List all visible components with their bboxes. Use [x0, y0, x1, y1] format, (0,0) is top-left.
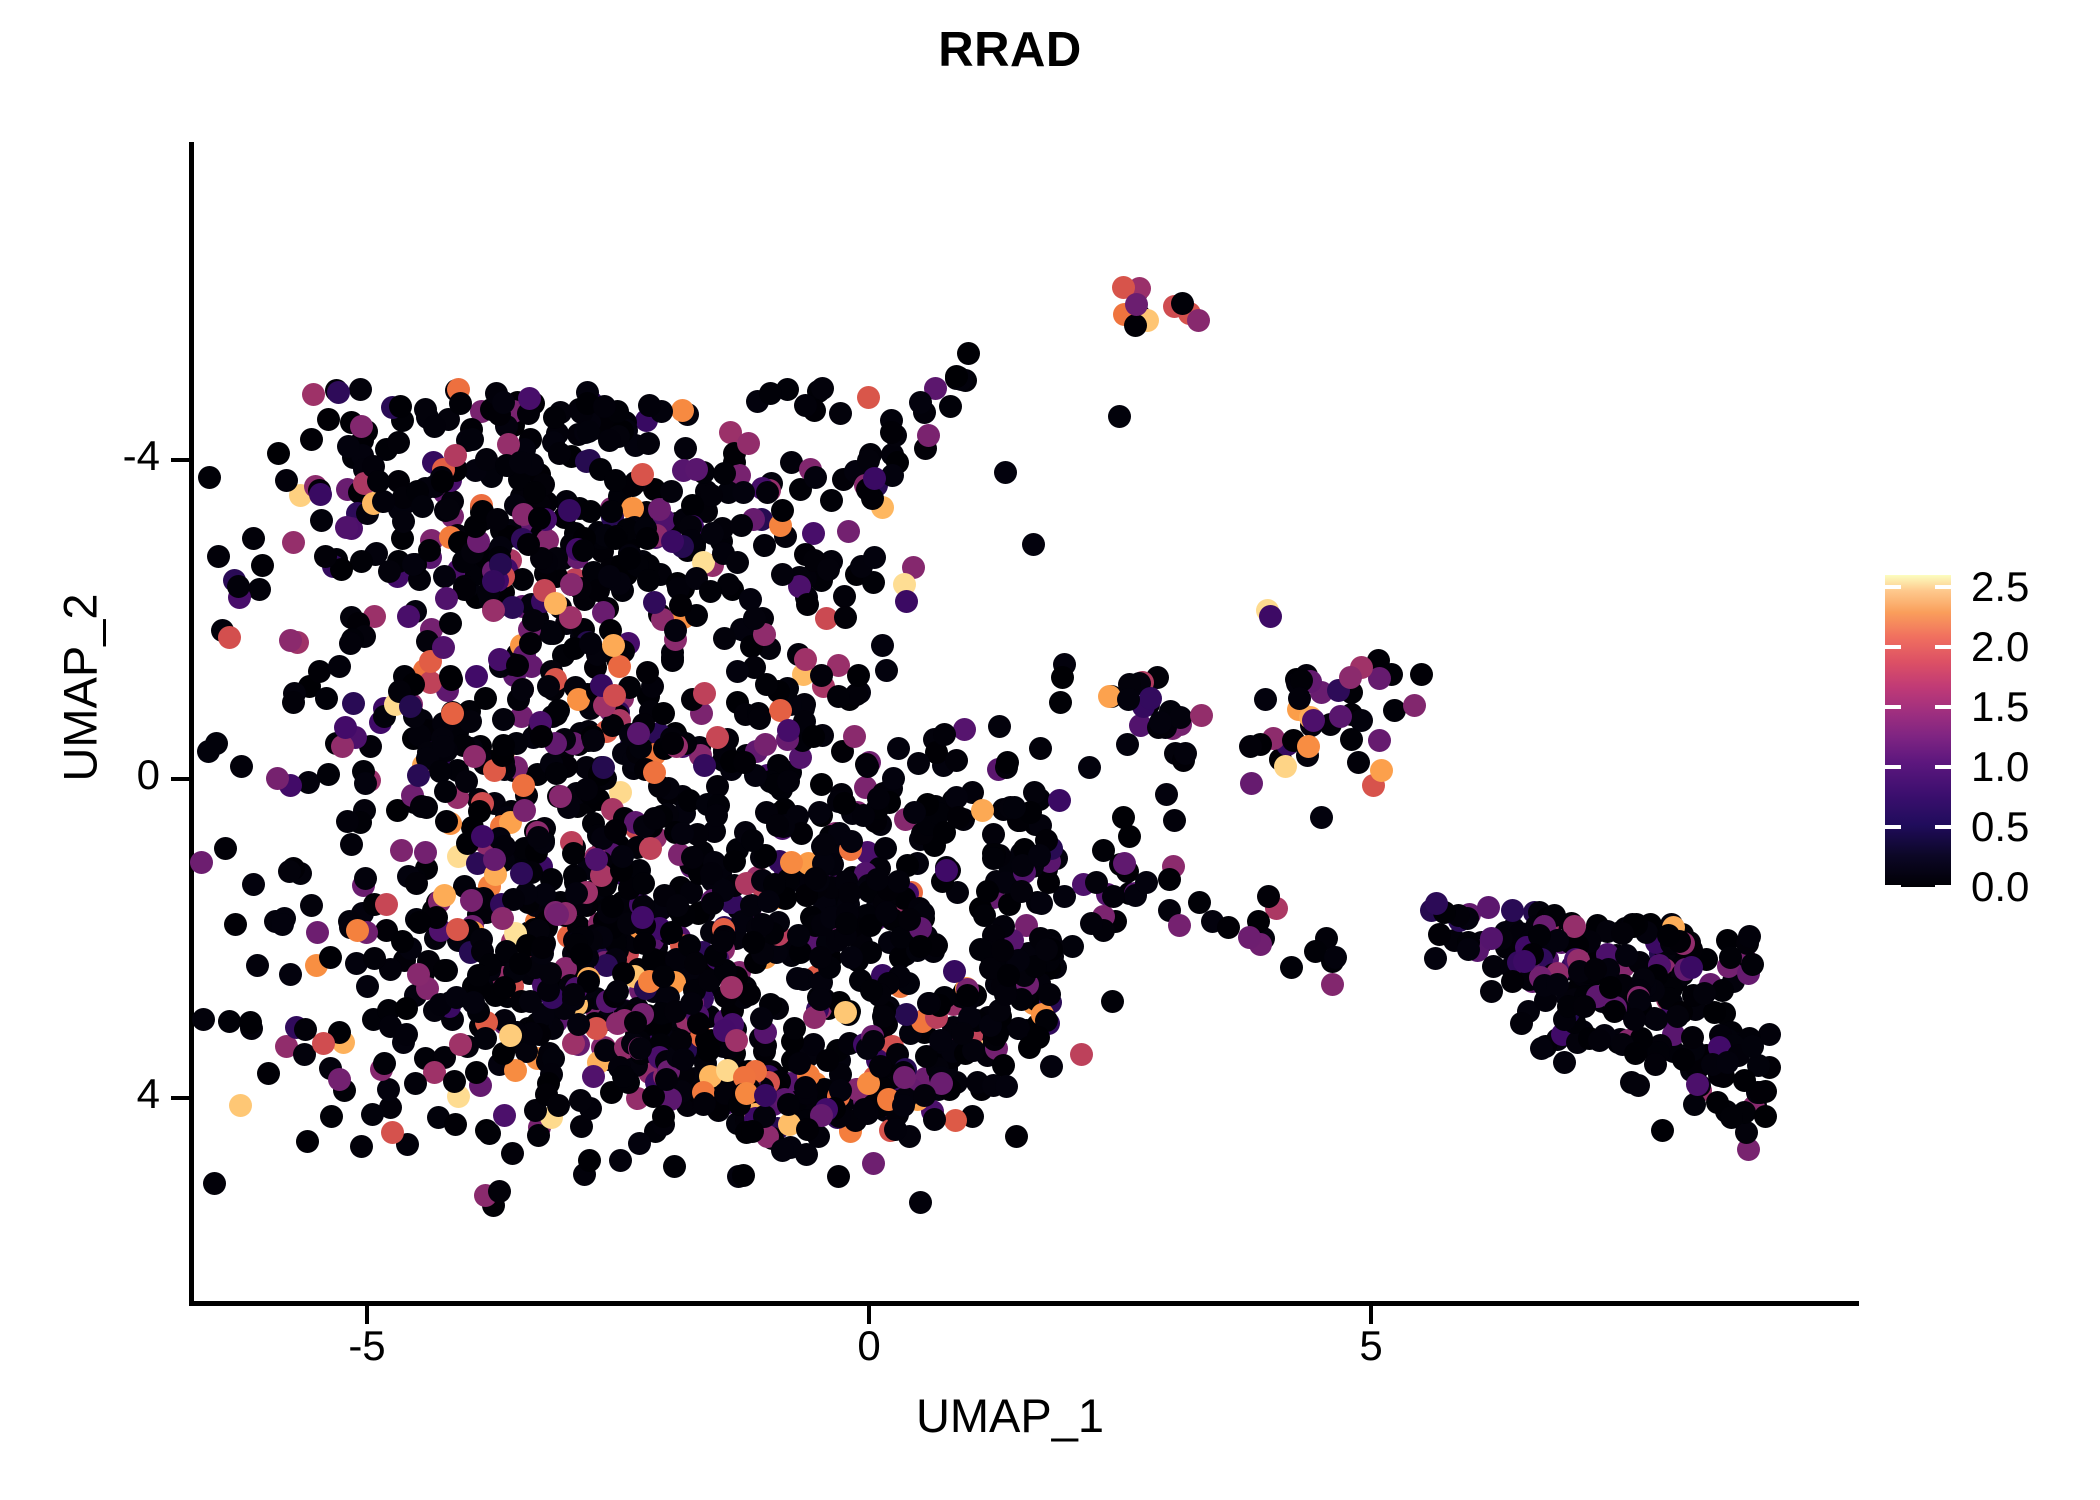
scatter-point [636, 661, 659, 684]
scatter-point [509, 451, 532, 474]
scatter-point [994, 461, 1017, 484]
scatter-point [939, 395, 962, 418]
scatter-point [1680, 956, 1703, 979]
scatter-point [1003, 796, 1026, 819]
scatter-point [335, 516, 358, 539]
scatter-point [1169, 706, 1192, 729]
scatter-point [827, 685, 850, 708]
scatter-point [604, 819, 627, 842]
scatter-point [811, 377, 834, 400]
scatter-point [598, 565, 621, 588]
scatter-point [1240, 772, 1263, 795]
scatter-point [387, 431, 410, 454]
scatter-point [988, 715, 1011, 738]
scatter-point [1297, 735, 1320, 758]
scatter-point [593, 395, 616, 418]
color-legend-tick-mark [1935, 825, 1951, 829]
scatter-point [545, 762, 568, 785]
scatter-point [600, 500, 623, 523]
scatter-point [917, 424, 940, 447]
scatter-point [794, 648, 817, 671]
scatter-point [827, 1165, 850, 1188]
scatter-point [943, 960, 966, 983]
scatter-point [1340, 728, 1363, 751]
scatter-point [833, 792, 856, 815]
scatter-point [390, 839, 413, 862]
scatter-point [660, 921, 683, 944]
scatter-point [637, 432, 660, 455]
color-legend-tick-mark [1935, 705, 1951, 709]
scatter-point [681, 846, 704, 869]
scatter-point [643, 807, 666, 830]
scatter-point [1257, 885, 1280, 908]
scatter-point [282, 531, 305, 554]
scatter-point [1124, 314, 1147, 337]
scatter-point [319, 946, 342, 969]
scatter-point [711, 930, 734, 953]
scatter-point [757, 890, 780, 913]
scatter-point [976, 880, 999, 903]
scatter-point [895, 1003, 918, 1026]
scatter-point [1573, 995, 1596, 1018]
scatter-point [1347, 751, 1370, 774]
scatter-point [528, 507, 551, 530]
scatter-point [578, 1149, 601, 1172]
scatter-point [1720, 1106, 1743, 1129]
scatter-point [440, 668, 463, 691]
scatter-point [1733, 1069, 1756, 1092]
scatter-point [631, 463, 654, 486]
scatter-point [509, 952, 532, 975]
scatter-point [190, 851, 213, 874]
scatter-point [1254, 688, 1277, 711]
scatter-point [433, 884, 456, 907]
scatter-point [1686, 1073, 1709, 1096]
scatter-point [813, 833, 836, 856]
scatter-point [346, 919, 369, 942]
scatter-point [582, 729, 605, 752]
scatter-point [862, 1030, 885, 1053]
scatter-point [1061, 935, 1084, 958]
scatter-point [982, 847, 1005, 870]
scatter-point [491, 907, 514, 930]
y-axis-line [189, 142, 194, 1306]
scatter-point [354, 867, 377, 890]
scatter-point [944, 1109, 967, 1132]
scatter-point [501, 1142, 524, 1165]
scatter-point [804, 466, 827, 489]
scatter-point [1259, 605, 1282, 628]
scatter-point [483, 848, 506, 871]
color-legend-tick-mark [1885, 645, 1901, 649]
scatter-point [903, 801, 926, 824]
umap-feature-plot: RRAD 40-4 -505 UMAP_1 UMAP_2 2.52.01.51.… [0, 0, 2100, 1500]
scatter-point [780, 851, 803, 874]
color-legend-label: 0.5 [1971, 803, 2029, 851]
scatter-point [1611, 922, 1634, 945]
scatter-point [835, 912, 858, 935]
scatter-point [1288, 687, 1311, 710]
scatter-point [853, 1098, 876, 1121]
scatter-point [933, 723, 956, 746]
scatter-point [771, 1139, 794, 1162]
scatter-point [833, 585, 856, 608]
scatter-point [618, 547, 641, 570]
scatter-point [887, 737, 910, 760]
scatter-point [684, 952, 707, 975]
scatter-point [863, 467, 886, 490]
scatter-point [884, 1118, 907, 1141]
scatter-point [320, 1105, 343, 1128]
x-tick-label: 0 [809, 1322, 929, 1370]
scatter-point [737, 432, 760, 455]
scatter-point [1370, 759, 1393, 782]
scatter-point [1190, 704, 1213, 727]
scatter-point [242, 527, 265, 550]
scatter-point [909, 1191, 932, 1214]
scatter-point [512, 774, 535, 797]
scatter-point [1274, 755, 1297, 778]
scatter-point [317, 408, 340, 431]
scatter-point [1510, 1012, 1533, 1035]
scatter-point [547, 1094, 570, 1117]
scatter-point [267, 442, 290, 465]
scatter-point [1040, 1055, 1063, 1078]
scatter-point [218, 1010, 241, 1033]
y-tick-mark [171, 1096, 189, 1100]
scatter-point [898, 908, 921, 931]
scatter-point [754, 733, 777, 756]
scatter-point [1117, 688, 1140, 711]
scatter-point [840, 830, 863, 853]
scatter-point [1027, 1026, 1050, 1049]
y-tick-mark [171, 777, 189, 781]
scatter-point [546, 903, 569, 926]
scatter-point [802, 725, 825, 748]
color-legend-label: 1.0 [1971, 743, 2029, 791]
scatter-point [1339, 666, 1362, 689]
scatter-point [1135, 871, 1158, 894]
scatter-point [433, 565, 456, 588]
scatter-point [693, 682, 716, 705]
scatter-point [302, 383, 325, 406]
scatter-point [1125, 293, 1148, 316]
scatter-point [314, 545, 337, 568]
scatter-point [378, 560, 401, 583]
scatter-point [340, 833, 363, 856]
scatter-point [1005, 1125, 1028, 1148]
scatter-point [350, 415, 373, 438]
scatter-point [1615, 944, 1638, 967]
scatter-point [1085, 871, 1108, 894]
scatter-point [1530, 1037, 1553, 1060]
scatter-point [407, 764, 430, 787]
scatter-point [1163, 809, 1186, 832]
scatter-point [1092, 839, 1115, 862]
scatter-point [652, 1105, 675, 1128]
scatter-point [1321, 973, 1344, 996]
scatter-point [720, 976, 743, 999]
scatter-point [1480, 980, 1503, 1003]
scatter-point [519, 632, 542, 655]
scatter-point [562, 842, 585, 865]
scatter-point [857, 386, 880, 409]
scatter-point [783, 1017, 806, 1040]
scatter-point [465, 1061, 488, 1084]
scatter-point [530, 725, 553, 748]
scatter-point [929, 1029, 952, 1052]
scatter-point [787, 924, 810, 947]
scatter-point [603, 684, 626, 707]
color-legend-tick-mark [1885, 765, 1901, 769]
scatter-point [230, 755, 253, 778]
scatter-point [652, 965, 675, 988]
scatter-point [432, 735, 455, 758]
scatter-point [1149, 711, 1172, 734]
scatter-point [1238, 926, 1261, 949]
scatter-point [1304, 940, 1327, 963]
scatter-point [609, 1149, 632, 1172]
color-legend-tick-mark [1935, 885, 1951, 889]
scatter-point [537, 675, 560, 698]
scatter-point [705, 804, 728, 827]
scatter-point [796, 1118, 819, 1141]
scatter-point [869, 1055, 892, 1078]
scatter-point [992, 1054, 1015, 1077]
scatter-point [405, 872, 428, 895]
scatter-point [558, 499, 581, 522]
color-legend-label: 1.5 [1971, 683, 2029, 731]
scatter-point [474, 687, 497, 710]
x-tick-label: 5 [1311, 1322, 1431, 1370]
scatter-point [681, 494, 704, 517]
scatter-point [817, 558, 840, 581]
scatter-point [397, 605, 420, 628]
scatter-point [294, 1018, 317, 1041]
scatter-point [669, 594, 692, 617]
scatter-point [1038, 983, 1061, 1006]
scatter-point [1070, 1043, 1093, 1066]
scatter-point [381, 1121, 404, 1144]
scatter-point [198, 466, 221, 489]
scatter-point [455, 770, 478, 793]
scatter-point [820, 489, 843, 512]
scatter-point [1657, 924, 1680, 947]
scatter-point [1428, 923, 1451, 946]
scatter-point [432, 636, 455, 659]
scatter-point [624, 1011, 647, 1034]
scatter-point [1302, 709, 1325, 732]
scatter-point [339, 632, 362, 655]
scatter-point [1101, 990, 1124, 1013]
scatter-point [492, 708, 515, 731]
scatter-point [631, 906, 654, 929]
scatter-point [275, 469, 298, 492]
scatter-point [880, 421, 903, 444]
scatter-point [239, 1011, 262, 1034]
scatter-point [527, 826, 550, 849]
scatter-point [279, 629, 302, 652]
scatter-point [771, 499, 794, 522]
scatter-point [733, 751, 756, 774]
scatter-point [655, 1068, 678, 1091]
scatter-point [227, 575, 250, 598]
scatter-point [1174, 742, 1197, 765]
scatter-point [1477, 896, 1500, 919]
scatter-point [224, 913, 247, 936]
scatter-point [847, 664, 870, 687]
color-legend-tick-mark [1885, 705, 1901, 709]
scatter-point [725, 1029, 748, 1052]
scatter-point [372, 490, 395, 513]
scatter-point [1217, 916, 1240, 939]
y-axis-title: UMAP_2 [53, 428, 108, 948]
scatter-point [1158, 868, 1181, 891]
scatter-point [706, 726, 729, 749]
scatter-point [957, 342, 980, 365]
scatter-point [1603, 1000, 1626, 1023]
scatter-point [687, 1012, 710, 1035]
scatter-point [1078, 756, 1101, 779]
scatter-point [465, 665, 488, 688]
scatter-point [462, 991, 485, 1014]
scatter-point [337, 435, 360, 458]
scatter-point [399, 695, 422, 718]
scatter-point [1028, 844, 1051, 867]
scatter-point [755, 673, 778, 696]
scatter-point [834, 1001, 857, 1024]
scatter-point [492, 391, 515, 414]
scatter-point [361, 1103, 384, 1126]
scatter-point [1410, 663, 1433, 686]
scatter-point [788, 1052, 811, 1075]
scatter-point [1480, 927, 1503, 950]
scatter-point [637, 569, 660, 592]
scatter-point [435, 810, 458, 833]
scatter-point [375, 893, 398, 916]
scatter-point [579, 632, 602, 655]
scatter-point [392, 510, 415, 533]
scatter-point [523, 481, 546, 504]
scatter-point [414, 841, 437, 864]
page-title: RRAD [0, 22, 2020, 78]
scatter-point [1681, 1026, 1704, 1049]
x-axis-title: UMAP_1 [0, 1388, 2020, 1443]
scatter-point [1030, 892, 1053, 915]
scatter-point [612, 1065, 635, 1088]
scatter-point [296, 1130, 319, 1153]
color-legend-tick-mark [1935, 765, 1951, 769]
scatter-point [674, 437, 697, 460]
scatter-point [1010, 880, 1033, 903]
scatter-point [794, 1076, 817, 1099]
scatter-point [1457, 938, 1480, 961]
scatter-point [242, 873, 265, 896]
scatter-point [1645, 1008, 1668, 1031]
color-legend-tick-mark [1885, 885, 1901, 889]
scatter-point [251, 554, 274, 577]
scatter-point [1425, 892, 1448, 915]
scatter-point [671, 399, 694, 422]
scatter-point [478, 1122, 501, 1145]
scatter-point [435, 587, 458, 610]
scatter-point [697, 1039, 720, 1062]
scatter-point [499, 1024, 522, 1047]
color-legend-tick-mark [1885, 825, 1901, 829]
scatter-point [531, 936, 554, 959]
scatter-point [449, 1033, 472, 1056]
scatter-point [652, 702, 675, 725]
scatter-point [418, 539, 441, 562]
scatter-point [1022, 533, 1045, 556]
color-legend-tick-mark [1935, 645, 1951, 649]
y-tick-mark [171, 458, 189, 462]
scatter-point [461, 428, 484, 451]
scatter-point [829, 402, 852, 425]
scatter-point [205, 732, 228, 755]
scatter-point [632, 872, 655, 895]
scatter-point [585, 848, 608, 871]
scatter-point [750, 1007, 773, 1030]
scatter-point [633, 932, 656, 955]
scatter-point [699, 580, 722, 603]
scatter-point [282, 691, 305, 714]
scatter-point [732, 481, 755, 504]
scatter-point [995, 1075, 1018, 1098]
scatter-point [777, 1093, 800, 1116]
scatter-point [771, 563, 794, 586]
scatter-point [1424, 947, 1447, 970]
scatter-point [666, 894, 689, 917]
scatter-point [759, 382, 782, 405]
scatter-point [449, 392, 472, 415]
scatter-point [350, 550, 373, 573]
scatter-point [693, 1092, 716, 1115]
scatter-point [363, 947, 386, 970]
scatter-point [1324, 946, 1347, 969]
scatter-point [441, 702, 464, 725]
scatter-point [786, 967, 809, 990]
scatter-point [680, 992, 703, 1015]
scatter-point [214, 837, 237, 860]
scatter-point [350, 1135, 373, 1158]
scatter-point [1188, 891, 1211, 914]
scatter-point [601, 895, 624, 918]
scatter-point [334, 716, 357, 739]
scatter-point [935, 859, 958, 882]
scatter-point [315, 687, 338, 710]
scatter-point [410, 795, 433, 818]
scatter-point [598, 429, 621, 452]
color-legend-gradient-bar [1885, 575, 1951, 887]
scatter-point [1368, 729, 1391, 752]
color-legend-label: 0.0 [1971, 863, 2029, 911]
scatter-point [1501, 970, 1524, 993]
scatter-point [439, 612, 462, 635]
scatter-point [953, 718, 976, 741]
scatter-point [991, 939, 1014, 962]
scatter-point [638, 394, 661, 417]
scatter-point [506, 654, 529, 677]
color-legend-tick-mark [1885, 585, 1901, 589]
scatter-point [279, 963, 302, 986]
scatter-point [834, 606, 857, 629]
scatter-point [947, 806, 970, 829]
x-axis-line [189, 1301, 1859, 1306]
scatter-point [562, 983, 585, 1006]
scatter-point [488, 1180, 511, 1203]
scatter-point [389, 395, 412, 418]
